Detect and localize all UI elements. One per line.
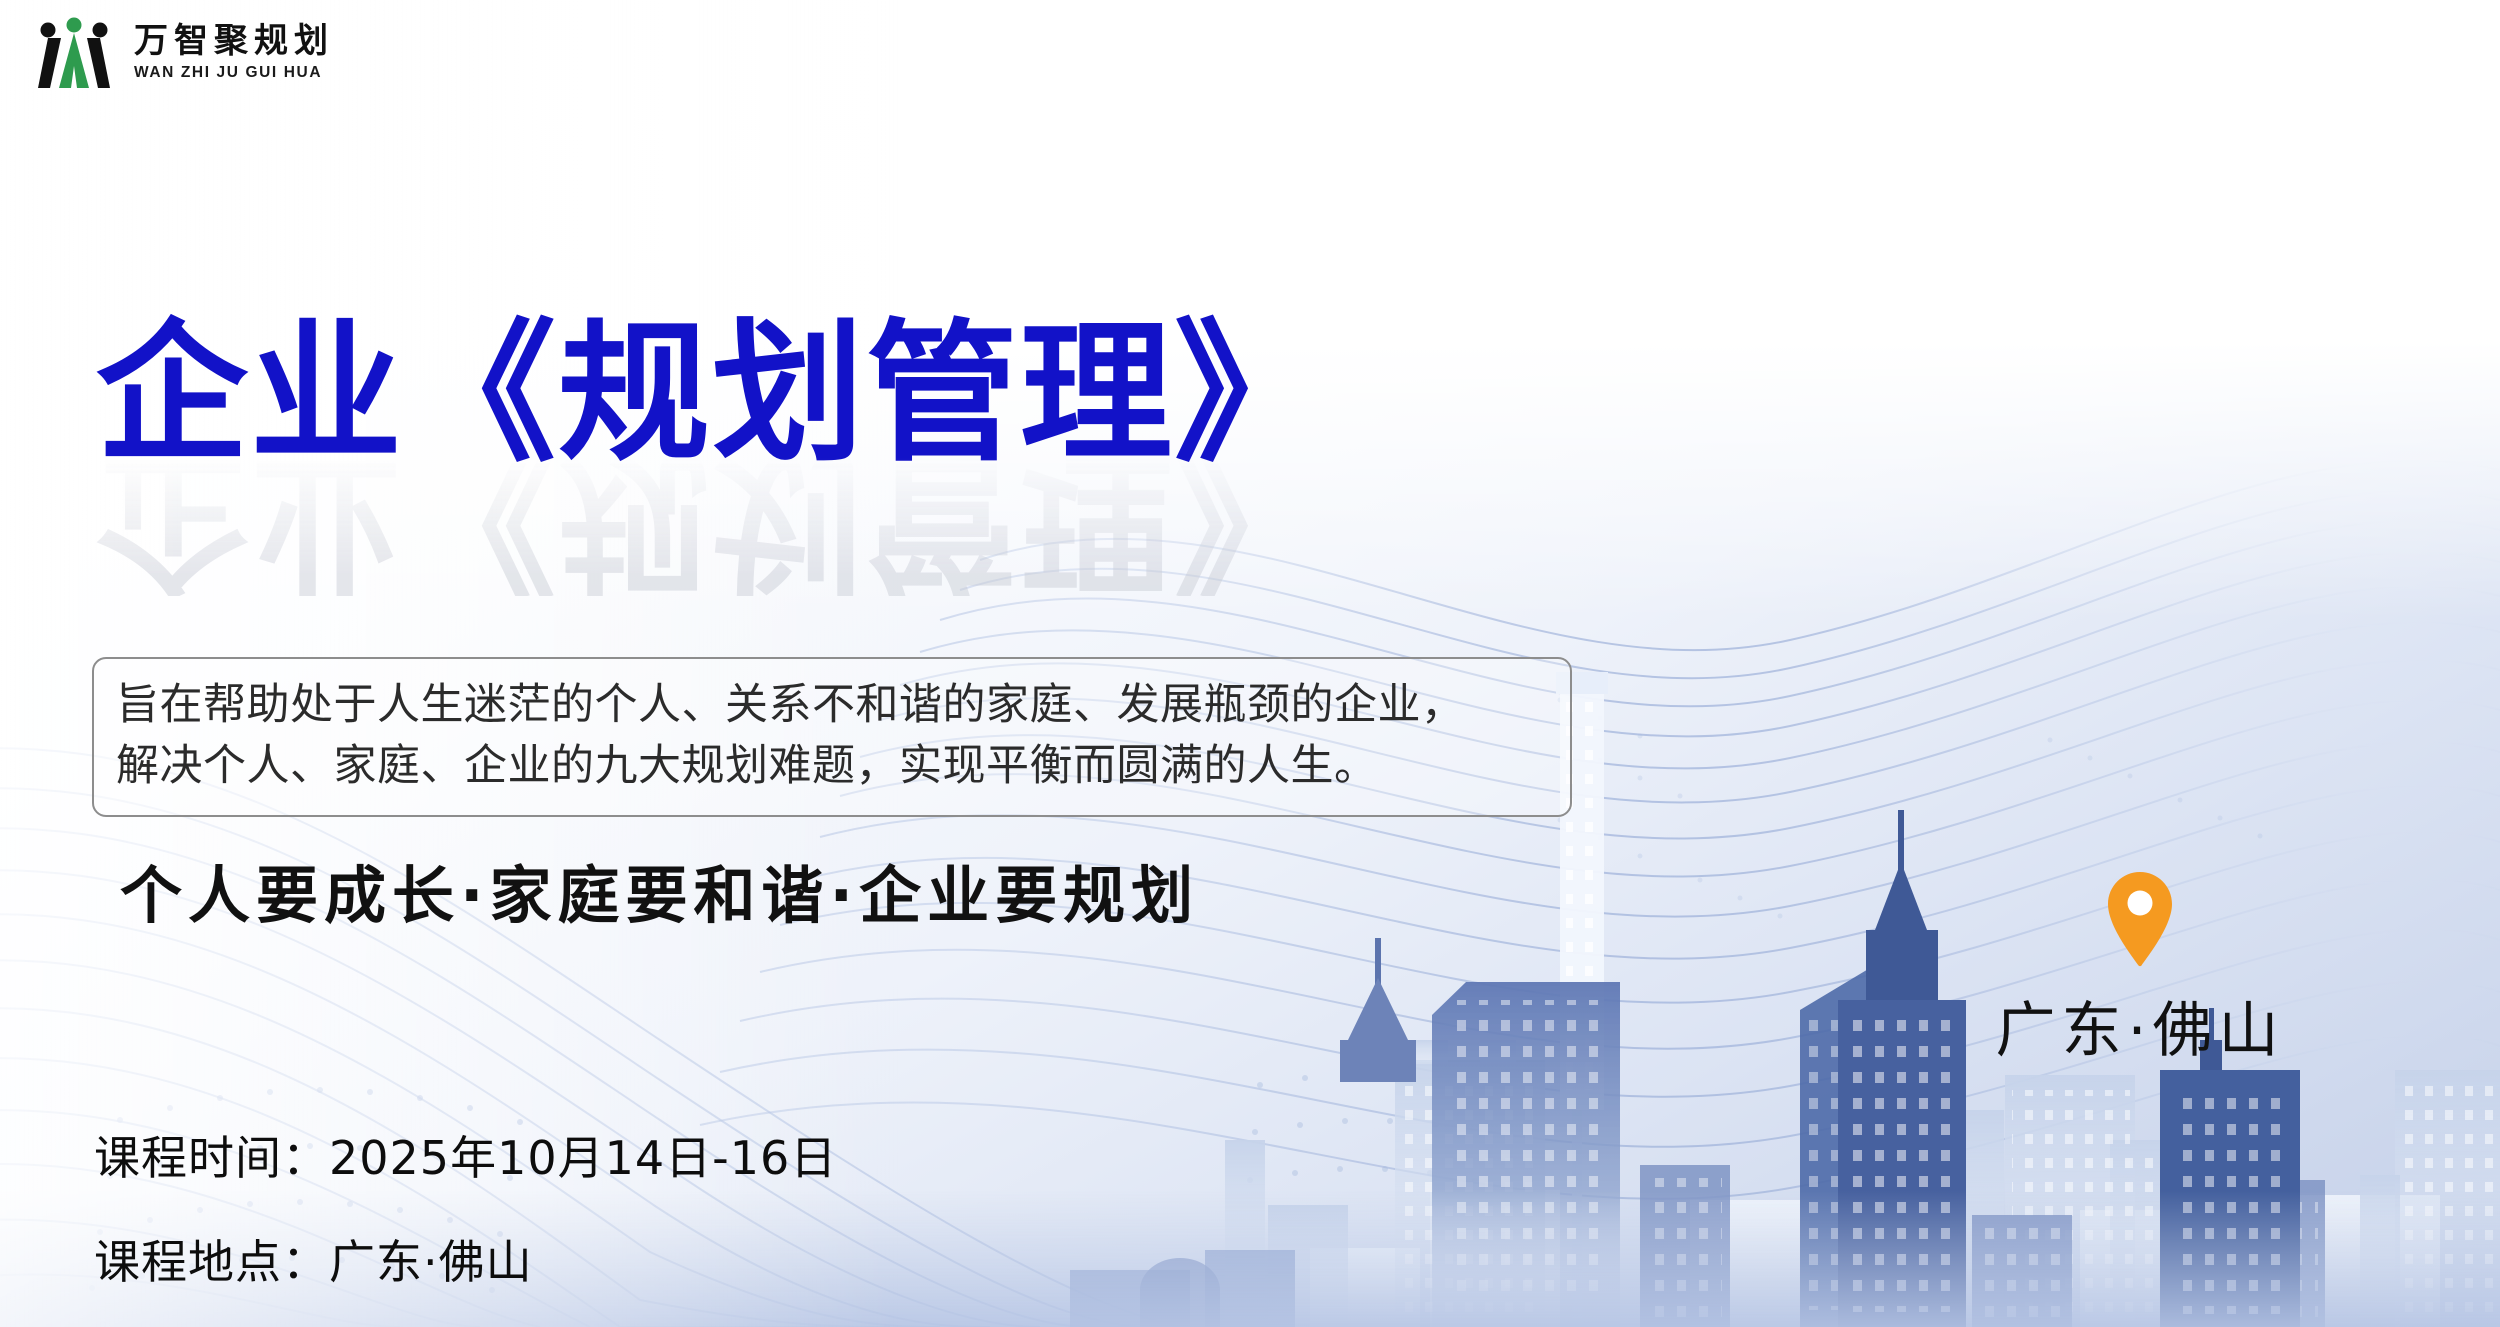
location-block: 广东·佛山 bbox=[1960, 870, 2320, 1069]
course-time-row: 课程时间：2025年10月14日-16日 bbox=[94, 1122, 837, 1188]
tagline: 个人要成长·家庭要和谐·企业要规划 bbox=[120, 845, 1199, 935]
navy-building-a bbox=[1432, 982, 1620, 1327]
course-info-block: 课程时间：2025年10月14日-16日 课程地点：广东·佛山 bbox=[94, 1122, 837, 1327]
page-title-reflection: 企业《规划管理》 bbox=[96, 444, 1328, 596]
hero-title-block: 企业《规划管理》 企业《规划管理》 bbox=[96, 318, 1328, 596]
three-people-m-logo-icon bbox=[30, 16, 118, 90]
course-place-row: 课程地点：广东·佛山 bbox=[94, 1226, 837, 1292]
promo-banner: 万智聚规划 WAN ZHI JU GUI HUA 企业《规划管理》 企业《规划管… bbox=[0, 0, 2500, 1327]
location-label: 广东·佛山 bbox=[1960, 982, 2320, 1069]
description-line-2: 解决个人、家庭、企业的九大规划难题，实现平衡而圆满的人生。 bbox=[116, 736, 1548, 797]
brand-logo-text: 万智聚规划 WAN ZHI JU GUI HUA bbox=[134, 24, 334, 83]
spire-building-left bbox=[1340, 938, 1416, 1082]
brand-name-en: WAN ZHI JU GUI HUA bbox=[134, 64, 334, 82]
description-line-1: 旨在帮助处于人生迷茫的个人、关系不和谐的家庭、发展瓶颈的企业， bbox=[116, 675, 1548, 736]
spire-building-main bbox=[1838, 810, 1966, 1327]
brand-name-cn: 万智聚规划 bbox=[134, 24, 334, 60]
brand-logo[interactable]: 万智聚规划 WAN ZHI JU GUI HUA bbox=[30, 16, 334, 90]
dome-building bbox=[1140, 1258, 1220, 1327]
navy-building-b bbox=[1800, 968, 1870, 1327]
description-box: 旨在帮助处于人生迷茫的个人、关系不和谐的家庭、发展瓶颈的企业， 解决个人、家庭、… bbox=[92, 657, 1572, 817]
map-pin-icon bbox=[2104, 870, 2176, 968]
